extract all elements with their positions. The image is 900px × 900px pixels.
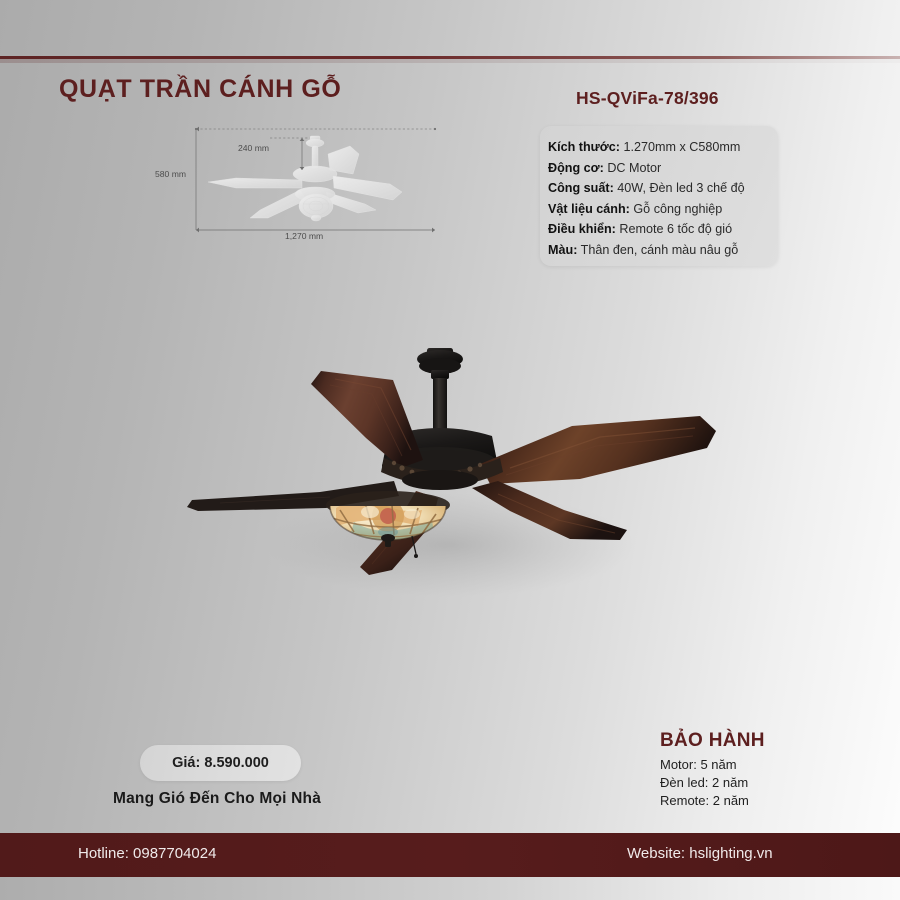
spec-value: DC Motor xyxy=(607,161,661,175)
warranty-block: BẢO HÀNH Motor: 5 năm Đèn led: 2 năm Rem… xyxy=(660,730,860,810)
warranty-item-remote: Remote: 2 năm xyxy=(660,792,860,810)
spec-value: Gỗ công nghiệp xyxy=(633,202,722,216)
product-photo xyxy=(180,340,760,630)
slogan-text: Mang Gió Đến Cho Mọi Nhà xyxy=(113,790,321,808)
dimension-diagram: 240 mm 580 mm 1,270 mm xyxy=(150,118,460,253)
spec-label: Công suất: xyxy=(548,181,614,195)
spec-value: Remote 6 tốc độ gió xyxy=(619,222,732,236)
fan-blade xyxy=(311,371,423,468)
dimension-label-height: 240 mm xyxy=(238,143,269,153)
price-text: Giá: 8.590.000 xyxy=(172,755,269,771)
product-sheet-page: QUẠT TRẦN CÁNH GỖ HS-QViFa-78/396 xyxy=(0,0,900,900)
spec-row: Công suất: 40W, Đèn led 3 chế độ xyxy=(548,178,778,199)
page-title: QUẠT TRẦN CÁNH GỖ xyxy=(59,75,341,104)
warranty-item-led: Đèn led: 2 năm xyxy=(660,774,860,792)
spec-value: 40W, Đèn led 3 chế độ xyxy=(617,181,744,195)
fan-mount xyxy=(417,348,463,430)
warranty-title: BẢO HÀNH xyxy=(660,730,860,752)
fan-blade xyxy=(480,416,716,484)
spec-label: Kích thước: xyxy=(548,140,620,154)
top-divider-shadow xyxy=(0,59,900,63)
warranty-item-motor: Motor: 5 năm xyxy=(660,756,860,774)
model-code: HS-QViFa-78/396 xyxy=(576,88,719,109)
footer-website: Website: hslighting.vn xyxy=(627,845,773,862)
dimension-label-width: 1,270 mm xyxy=(285,231,323,241)
dimension-label-depth: 580 mm xyxy=(155,169,186,179)
spec-row: Điều khiển: Remote 6 tốc độ gió xyxy=(548,219,778,240)
spec-label: Vật liệu cánh: xyxy=(548,202,630,216)
spec-value: Thân đen, cánh màu nâu gỗ xyxy=(581,243,739,257)
bottom-strip xyxy=(0,877,900,900)
footer-hotline: Hotline: 0987704024 xyxy=(78,845,216,862)
specifications-panel: Kích thước: 1.270mm x C580mm Động cơ: DC… xyxy=(540,126,778,266)
spec-value: 1.270mm x C580mm xyxy=(623,140,740,154)
spec-label: Màu: xyxy=(548,243,577,257)
spec-row: Vật liệu cánh: Gỗ công nghiệp xyxy=(548,199,778,220)
spec-row: Động cơ: DC Motor xyxy=(548,158,778,179)
spec-row: Màu: Thân đen, cánh màu nâu gỗ xyxy=(548,240,778,261)
spec-label: Điều khiển: xyxy=(548,222,616,236)
price-badge: Giá: 8.590.000 xyxy=(140,745,301,781)
spec-label: Động cơ: xyxy=(548,161,604,175)
spec-row: Kích thước: 1.270mm x C580mm xyxy=(548,137,778,158)
